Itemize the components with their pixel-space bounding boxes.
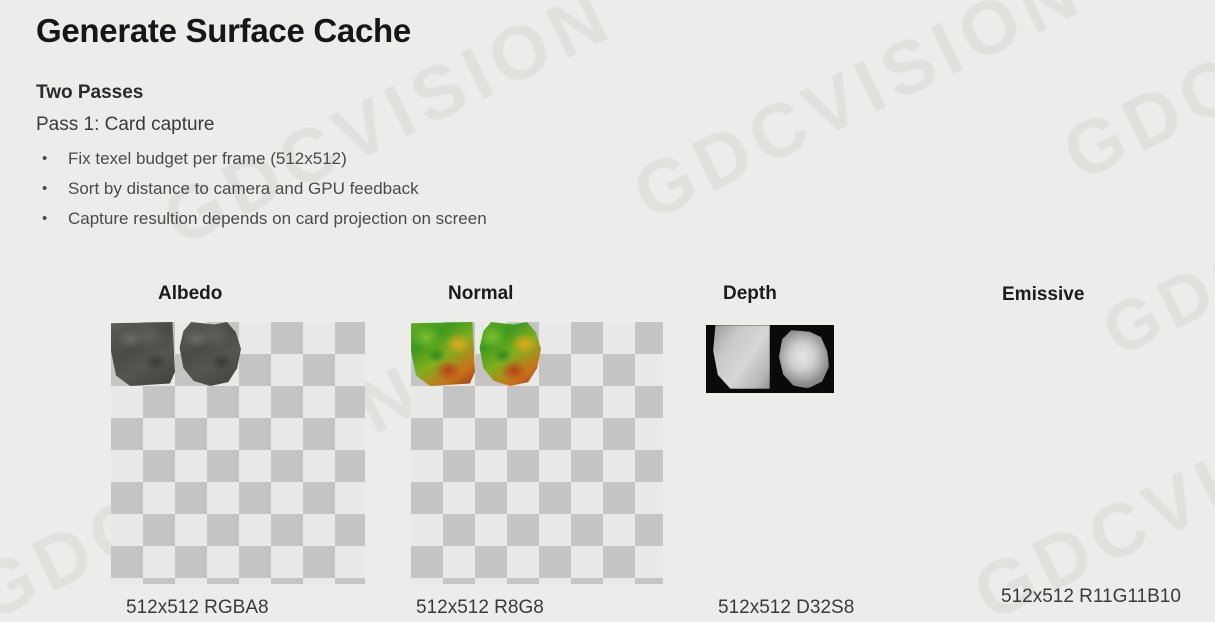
watermark-text: GDCVISION (1050, 0, 1215, 197)
watermark-text: GDCVISION (960, 346, 1215, 622)
rock-albedo-texture (177, 322, 241, 386)
normal-card-capture-1 (411, 322, 475, 386)
rock-albedo-texture (111, 322, 175, 386)
albedo-atlas-panel (111, 322, 365, 584)
column-header-normal: Normal (448, 283, 513, 305)
slide-title: Generate Surface Cache (36, 12, 411, 50)
normal-atlas-panel (411, 322, 663, 584)
pass-label: Pass 1: Card capture (36, 114, 214, 136)
bullet-list: • Fix texel budget per frame (512x512) •… (36, 144, 796, 234)
list-item-label: Capture resultion depends on card projec… (68, 204, 796, 234)
column-header-albedo: Albedo (158, 283, 222, 305)
bullet-icon: • (36, 144, 68, 174)
list-item-label: Sort by distance to camera and GPU feedb… (68, 174, 796, 204)
normal-card-capture-2 (477, 322, 541, 386)
albedo-card-capture-2 (177, 322, 241, 386)
depth-shape-right (778, 330, 829, 388)
list-item-label: Fix texel budget per frame (512x512) (68, 144, 796, 174)
column-header-depth: Depth (723, 283, 777, 305)
column-header-emissive: Emissive (1002, 284, 1084, 306)
caption-emissive: 512x512 R11G11B10 (1001, 586, 1181, 608)
list-item: • Sort by distance to camera and GPU fee… (36, 174, 796, 204)
depth-shape-left (712, 325, 770, 389)
bullet-icon: • (36, 204, 68, 234)
depth-card-capture-1 (706, 325, 770, 393)
caption-normal: 512x512 R8G8 (416, 597, 544, 619)
depth-atlas-panel (706, 325, 834, 393)
rock-normal-texture (477, 322, 541, 386)
slide-subtitle: Two Passes (36, 82, 143, 104)
list-item: • Capture resultion depends on card proj… (36, 204, 796, 234)
caption-albedo: 512x512 RGBA8 (126, 597, 269, 619)
list-item: • Fix texel budget per frame (512x512) (36, 144, 796, 174)
bullet-icon: • (36, 174, 68, 204)
rock-normal-texture (411, 322, 475, 386)
caption-depth: 512x512 D32S8 (718, 597, 854, 619)
depth-card-capture-2 (770, 325, 834, 393)
watermark-text: GDCVISION (1090, 100, 1215, 372)
slide-canvas: GDCVISION GDCVISION GDCVISION GDCVISION … (0, 0, 1215, 622)
albedo-card-capture-1 (111, 322, 175, 386)
